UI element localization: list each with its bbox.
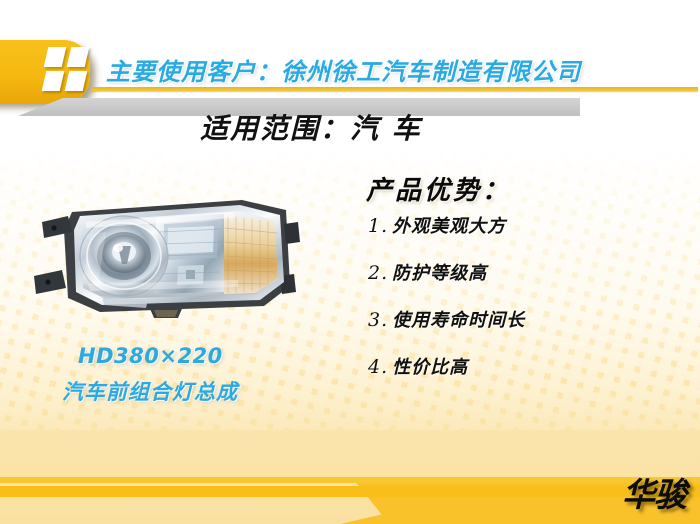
list-item-label: 外观美观大方 [392,216,506,237]
list-item-label: 性价比高 [392,357,468,378]
subtitle: 适用范围：汽 车 [200,107,422,147]
product-model-caption: HD380×220 [78,344,223,368]
header-underline [92,87,698,91]
list-item: 2.防护等级高 [368,259,688,285]
list-item-number: 3. [368,309,392,331]
header-title: 主要使用客户：徐州徐工汽车制造有限公司 [106,52,581,87]
grid-tiles-icon [44,47,96,97]
grid-tile [44,47,67,67]
list-item: 3.使用寿命时间长 [368,306,688,332]
list-item-number: 1. [368,215,392,237]
list-item: 1.外观美观大方 [368,212,688,238]
list-item-label: 使用寿命时间长 [392,310,525,331]
advantages-heading: 产品优势： [366,170,511,207]
grid-tile [42,71,65,91]
list-item: 4.性价比高 [368,353,688,379]
brand-logo: 华骏 [622,468,686,516]
list-item-number: 4. [368,356,392,378]
grid-tile [67,47,90,67]
grid-tile [65,71,88,91]
slide-canvas: 主要使用客户：徐州徐工汽车制造有限公司 适用范围：汽 车 [0,0,700,524]
product-photo [28,188,308,323]
product-name-caption: 汽车前组合灯总成 [62,376,238,406]
headlamp-illustration [28,188,308,323]
footer-band [0,430,700,524]
list-item-number: 2. [368,262,392,284]
list-item-label: 防护等级高 [392,263,487,284]
advantages-list: 1.外观美观大方 2.防护等级高 3.使用寿命时间长 4.性价比高 [368,212,688,400]
footer-stripe-thin [0,477,700,483]
footer-stripe-thick [0,486,700,497]
